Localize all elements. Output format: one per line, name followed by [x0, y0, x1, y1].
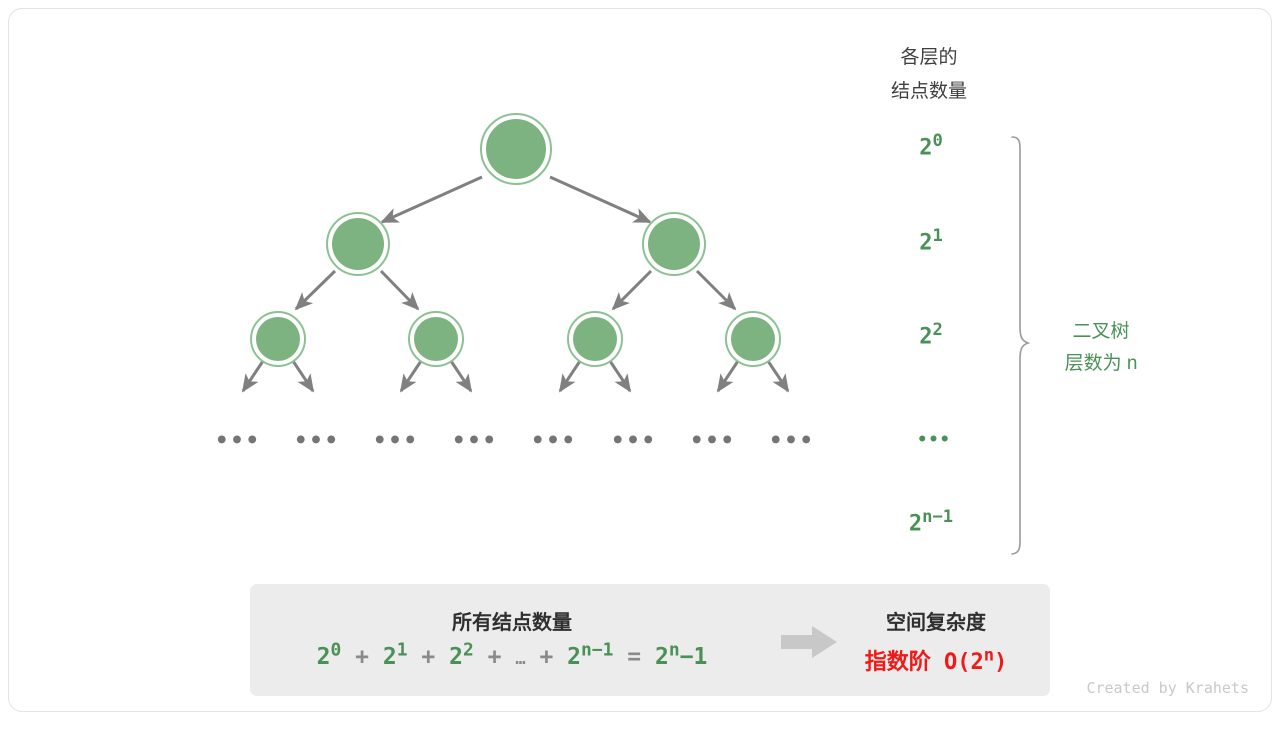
formula-term-3-exp: 2 — [463, 639, 474, 660]
level-label-last-base: 2 — [909, 512, 922, 537]
credit-text: Created by Krahets — [1086, 679, 1249, 697]
formula-term-4-exp: n−1 — [581, 639, 613, 660]
side-note-line2: 层数为 n — [1041, 349, 1161, 379]
complexity-notation-exp: n — [984, 646, 994, 666]
formula-term-2: 2 — [383, 644, 397, 670]
formula-plus-4: + — [539, 644, 553, 670]
level-label-0: 20 — [919, 136, 943, 161]
level-label-1: 21 — [919, 231, 943, 256]
column-header-line2: 结点数量 — [849, 75, 1009, 109]
level-label-last: 2n−1 — [909, 512, 953, 537]
leaf-ellipsis: ••• — [531, 429, 577, 454]
formula-term-2-exp: 1 — [397, 639, 408, 660]
formula-ellipsis: … — [515, 649, 525, 669]
column-header-line1: 各层的 — [849, 41, 1009, 75]
level-label-1-base: 2 — [919, 231, 932, 256]
formula-result-exp: n — [669, 639, 680, 660]
block-arrow-right-icon — [779, 624, 841, 660]
level-label-2: 22 — [919, 325, 943, 350]
leaf-ellipsis: ••• — [611, 429, 657, 454]
formula-equals: = — [627, 644, 641, 670]
level-label-2-base: 2 — [919, 325, 932, 350]
level-label-0-base: 2 — [919, 136, 932, 161]
formula-plus-3: + — [488, 644, 502, 670]
leaf-ellipsis: ••• — [690, 429, 736, 454]
complexity-label: 指数阶 — [865, 650, 931, 675]
formula-term-1-exp: 0 — [330, 639, 341, 660]
summary-right-title: 空间复杂度 — [886, 606, 986, 635]
leaf-ellipsis: ••• — [215, 429, 261, 454]
leaf-ellipsis: ••• — [769, 429, 815, 454]
complexity-notation-head: O(2 — [944, 650, 984, 675]
formula-term-1: 2 — [317, 644, 331, 670]
summary-formula: 20 + 21 + 22 + … + 2n−1 = 2n−1 — [317, 644, 708, 670]
complexity-notation-tail: ) — [994, 650, 1007, 675]
leaf-ellipsis: ••• — [373, 429, 419, 454]
level-label-ellipsis: ••• — [917, 430, 951, 450]
formula-result-tail: −1 — [680, 644, 708, 670]
level-label-0-exponent: 0 — [932, 131, 942, 151]
side-note-line1: 二叉树 — [1041, 317, 1161, 347]
formula-plus-1: + — [355, 644, 369, 670]
formula-result: 2 — [655, 644, 669, 670]
formula-term-4: 2 — [567, 644, 581, 670]
level-label-1-exponent: 1 — [932, 226, 942, 246]
summary-left-title: 所有结点数量 — [452, 606, 572, 635]
level-label-last-exponent: n−1 — [922, 507, 953, 527]
leaf-ellipsis: ••• — [294, 429, 340, 454]
complexity-value: 指数阶 O(2n) — [865, 644, 1008, 676]
leaf-ellipsis: ••• — [452, 429, 498, 454]
summary-box: 所有结点数量 20 + 21 + 22 + … + 2n−1 = 2n−1 空间… — [250, 584, 1050, 696]
diagram-canvas: 各层的 结点数量 — [8, 8, 1272, 712]
formula-plus-2: + — [421, 644, 435, 670]
formula-term-3: 2 — [449, 644, 463, 670]
level-label-2-exponent: 2 — [932, 320, 942, 340]
